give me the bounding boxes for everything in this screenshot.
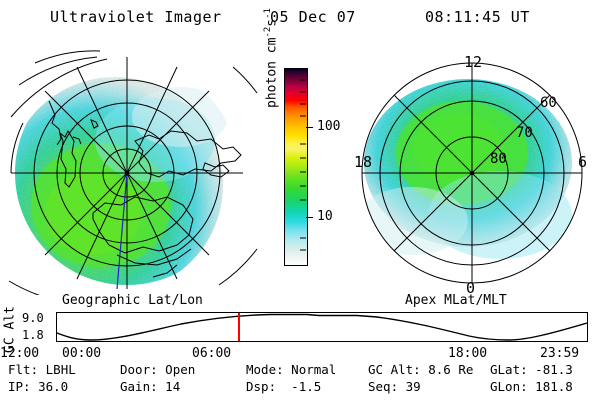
time-tick-1200: 12:00 [0, 346, 39, 361]
colorbar-tick-label-100: 100 [317, 119, 340, 134]
status-gain: Gain: 14 [120, 379, 180, 394]
time-tick-0600: 06:00 [192, 346, 231, 361]
orbit-track-svg [57, 313, 587, 341]
magnetic-plot-svg: 12 18 6 0 60 70 80 [350, 45, 595, 295]
status-flt: Flt: LBHL [8, 362, 76, 377]
gc-alt-tick-min: 1.8 [22, 328, 44, 342]
mlat-label-70: 70 [516, 125, 533, 141]
magnetic-plot[interactable]: 12 18 6 0 60 70 80 [350, 45, 595, 295]
orbit-altitude-curve [57, 315, 587, 341]
status-row-1: Flt: LBHL Door: Open Mode: Normal GC Alt… [0, 362, 600, 379]
status-dsp: Dsp: -1.5 [246, 379, 321, 394]
colorbar-axis-label: photon cm-2s-1 [263, 0, 279, 138]
geographic-plot[interactable] [5, 45, 260, 295]
pole-marker [125, 171, 130, 176]
mlt-label-12: 12 [464, 53, 482, 71]
colorbar[interactable]: photon cm-2s-1 100 10 [265, 60, 350, 295]
observation-time: 08:11:45 UT [425, 8, 530, 26]
colorbar-tick-100 [306, 127, 313, 128]
colorbar-tick-10 [306, 217, 313, 218]
colorbar-tick-label-10: 10 [317, 209, 333, 224]
geographic-plot-svg [5, 45, 260, 295]
orbit-plot-box[interactable] [56, 312, 588, 342]
status-glat: GLat: -81.3 [490, 362, 573, 377]
colorbar-minor-ticks [284, 68, 306, 264]
magnetic-pole-marker [470, 171, 474, 175]
time-tick-2359: 23:59 [540, 346, 579, 361]
status-door: Door: Open [120, 362, 195, 377]
status-mode: Mode: Normal [246, 362, 336, 377]
observation-date: 05 Dec 07 [270, 8, 356, 26]
instrument-title: Ultraviolet Imager [50, 8, 222, 26]
mlt-label-6: 6 [578, 153, 587, 171]
time-cursor[interactable] [238, 313, 240, 341]
mlat-label-60: 60 [540, 95, 557, 111]
time-tick-0000: 00:00 [62, 346, 101, 361]
status-row-2: IP: 36.0 Gain: 14 Dsp: -1.5 Seq: 39 GLon… [0, 379, 600, 396]
status-ip: IP: 36.0 [8, 379, 68, 394]
mlat-label-80: 80 [490, 151, 507, 167]
status-gc-alt: GC Alt: 8.6 Re [368, 362, 473, 377]
header-bar: Ultraviolet Imager 05 Dec 07 08:11:45 UT [0, 8, 600, 32]
orbit-altitude-strip[interactable]: GC Alt 9.0 1.8 00:00 06:00 12:00 18:00 2… [0, 306, 600, 356]
status-seq: Seq: 39 [368, 379, 421, 394]
mlt-label-18: 18 [354, 153, 372, 171]
time-tick-1800: 18:00 [448, 346, 487, 361]
status-glon: GLon: 181.8 [490, 379, 573, 394]
status-footer: Flt: LBHL Door: Open Mode: Normal GC Alt… [0, 362, 600, 396]
gc-alt-tick-max: 9.0 [22, 311, 44, 325]
